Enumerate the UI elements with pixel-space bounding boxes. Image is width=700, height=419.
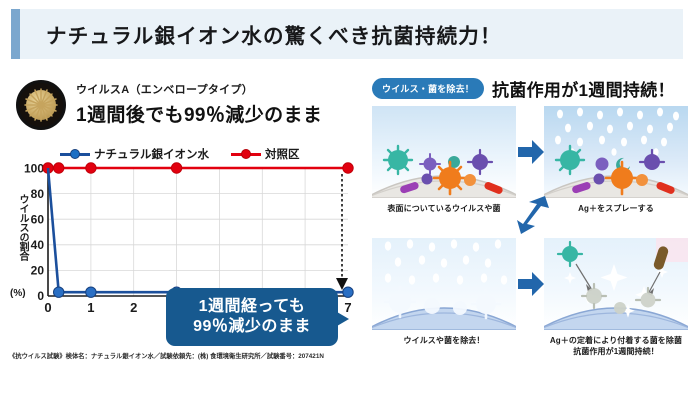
spray-droplets-icon xyxy=(544,106,688,198)
mechanism-headline: 抗菌作用が1週間持続！ xyxy=(492,76,675,101)
page-header: ナチュラル銀イオン水の驚くべき抗菌持続力！ xyxy=(11,9,683,59)
panel-4-caption-line-2: 抗菌作用が1週間持続！ xyxy=(544,346,688,357)
header-accent-bar xyxy=(11,9,20,59)
svg-text:20: 20 xyxy=(31,264,45,278)
mechanism-panel-2: Ag＋をスプレーする xyxy=(544,106,688,214)
surface-with-germs-icon xyxy=(372,106,516,198)
panel-4-caption-line-1: Ag＋の定着により付着する菌を除菌 xyxy=(544,335,688,346)
callout-line-1: 1週間経っても xyxy=(199,297,306,317)
remove-virus-badge: ウイルス・菌を除去！ xyxy=(372,78,484,99)
svg-text:100: 100 xyxy=(24,162,44,176)
arrow-right-icon-2 xyxy=(518,272,544,296)
callout-tail-icon xyxy=(337,312,349,326)
arrow-right-icon-1 xyxy=(518,140,544,164)
svg-text:60: 60 xyxy=(31,213,45,227)
svg-text:1: 1 xyxy=(87,300,94,315)
callout-line-2: 99％減少のまま xyxy=(193,317,311,337)
panel-3-caption: ウイルスや菌を除去！ xyxy=(372,335,516,346)
chart-headline: 1週間後でも99％減少のまま xyxy=(76,100,322,127)
svg-text:40: 40 xyxy=(31,238,45,252)
panel-2-caption: Ag＋をスプレーする xyxy=(544,203,688,214)
germs-removed-icon xyxy=(372,238,516,330)
panel-4-illustration xyxy=(544,238,688,330)
page-title: ナチュラル銀イオン水の驚くべき抗菌持続力！ xyxy=(46,19,502,49)
chart-callout: 1週間経っても 99％減少のまま xyxy=(166,288,338,346)
arrow-down-left-icon xyxy=(515,194,549,234)
mechanism-panel-grid: 表面についているウイルスや菌 xyxy=(372,106,694,374)
mechanism-heading-group: ウイルス・菌を除去！ 抗菌作用が1週間持続！ xyxy=(372,76,675,101)
panel-1-caption: 表面についているウイルスや菌 xyxy=(372,203,516,214)
mechanism-panel-4: Ag＋の定着により付着する菌を除菌 抗菌作用が1週間持続！ xyxy=(544,238,688,357)
virus-type-label: ウイルスA（エンベロープタイプ） xyxy=(76,81,322,97)
svg-text:0: 0 xyxy=(44,300,51,315)
legend-marker-icon xyxy=(60,149,90,159)
panel-2-illustration xyxy=(544,106,688,198)
svg-text:2: 2 xyxy=(130,300,137,315)
virus-reduction-chart: ウイルスの割合 (%) xyxy=(6,160,366,340)
legend-marker-icon xyxy=(231,149,261,159)
mechanism-panel-1: 表面についているウイルスや菌 xyxy=(372,106,516,214)
panel-4-caption: Ag＋の定着により付着する菌を除菌 抗菌作用が1週間持続！ xyxy=(544,335,688,357)
mechanism-section: ウイルス・菌を除去！ 抗菌作用が1週間持続！ xyxy=(372,76,694,376)
svg-text:80: 80 xyxy=(31,187,45,201)
test-method-footnote: 《抗ウイルス試験》検体名：ナチュラル銀イオン水／試験依頼先：(株) 食環境衛生研… xyxy=(9,351,324,360)
panel-3-illustration xyxy=(372,238,516,330)
chart-heading-group: ウイルスA（エンベロープタイプ） 1週間後でも99％減少のまま xyxy=(16,80,322,130)
svg-text:0: 0 xyxy=(37,289,44,303)
panel-1-illustration xyxy=(372,106,516,198)
virus-spikes-icon xyxy=(19,83,63,127)
ag-sparkle-protection-icon xyxy=(544,238,688,330)
chart-section: ウイルスA（エンベロープタイプ） 1週間後でも99％減少のまま ナチュラル銀イオ… xyxy=(0,72,368,382)
mechanism-panel-3: ウイルスや菌を除去！ xyxy=(372,238,516,346)
virus-particle-icon xyxy=(16,80,66,130)
